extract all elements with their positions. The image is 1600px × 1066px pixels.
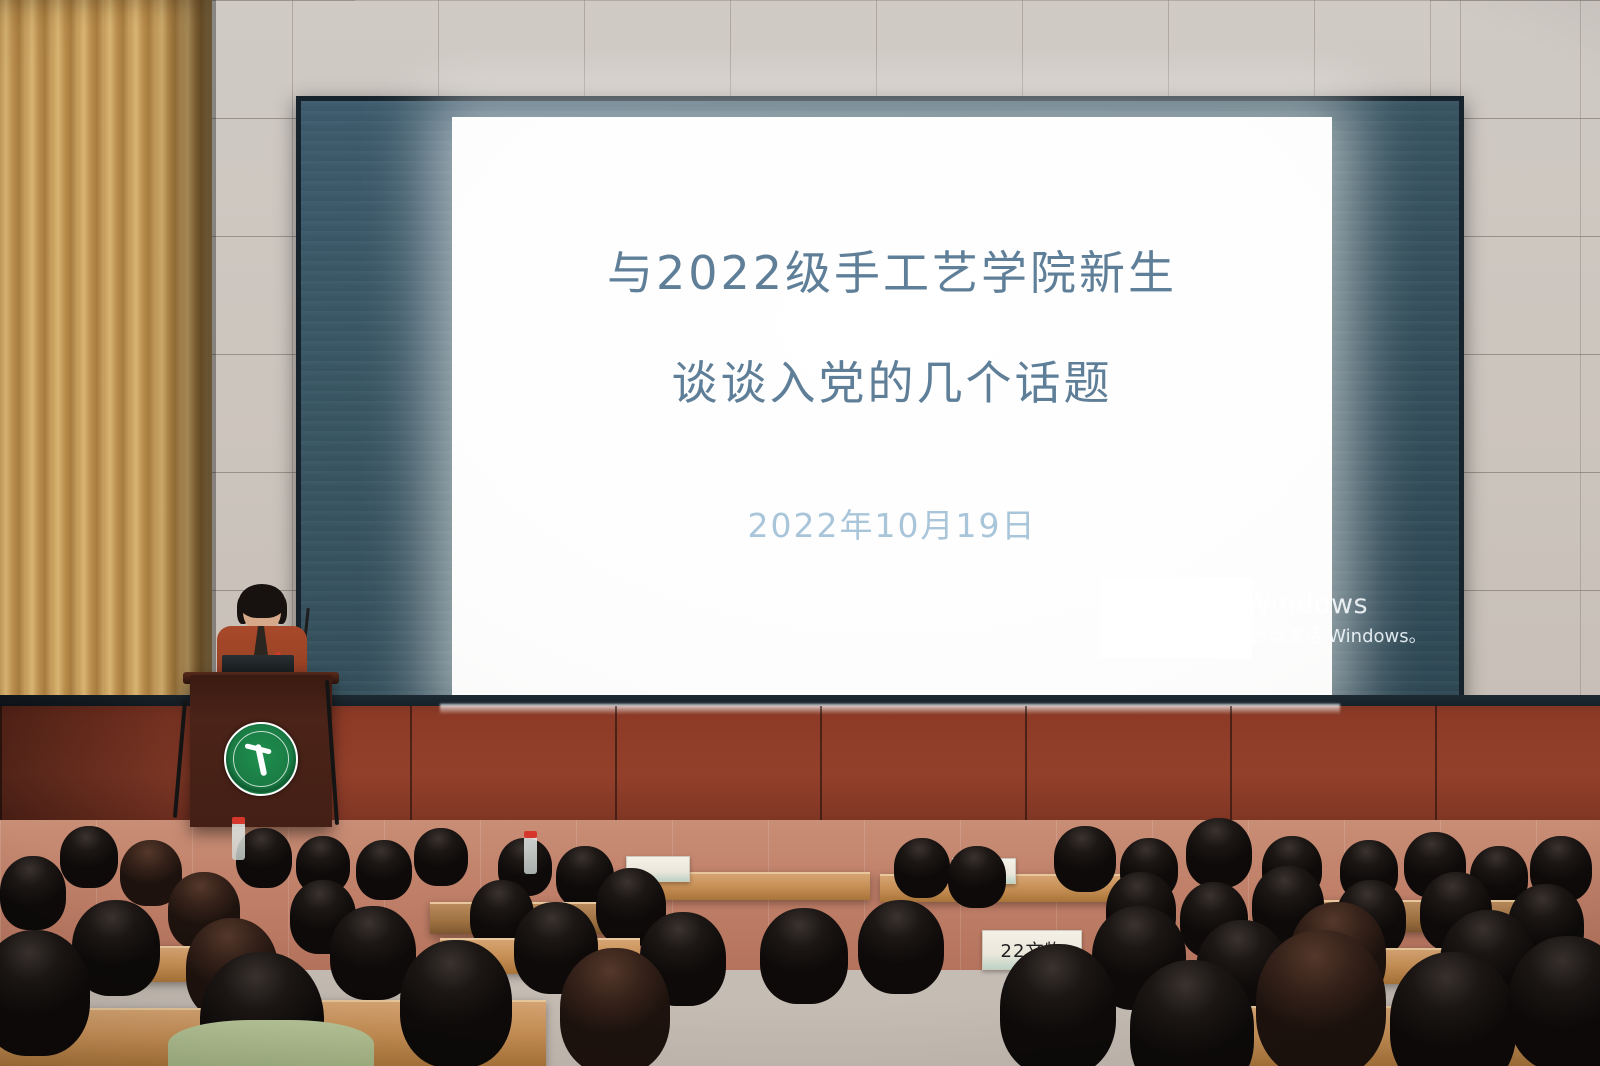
audience-head <box>60 826 118 888</box>
audience-head <box>560 948 670 1066</box>
audience-head <box>760 908 848 1004</box>
water-bottle-cap <box>232 817 245 824</box>
audience-head <box>1256 930 1386 1066</box>
college-seal-emblem <box>224 722 298 796</box>
audience-head <box>894 838 950 898</box>
audience-shoulders-green-hoodie <box>168 1020 374 1066</box>
audience-head <box>1186 818 1252 888</box>
water-bottle <box>232 822 245 860</box>
slide-title-line-1: 与2022级手工艺学院新生 <box>607 237 1177 303</box>
slide-date: 2022年10月19日 <box>748 499 1037 547</box>
audience-head <box>858 900 944 994</box>
audience-head <box>356 840 412 900</box>
lecture-hall-photo: 与2022级手工艺学院新生 谈谈入党的几个话题 2022年10月19日 激活 W… <box>0 0 1600 1066</box>
audience-head <box>948 846 1006 908</box>
audience-head <box>1000 944 1116 1066</box>
projection-screen: 与2022级手工艺学院新生 谈谈入党的几个话题 2022年10月19日 <box>452 117 1332 706</box>
audience-head <box>1054 826 1116 892</box>
speaker-hair <box>239 584 285 618</box>
audience-head <box>414 828 468 886</box>
audience-head <box>0 856 66 930</box>
presentation-slide: 与2022级手工艺学院新生 谈谈入党的几个话题 2022年10月19日 <box>452 117 1332 706</box>
audience-head <box>400 940 512 1066</box>
water-bottle <box>524 836 537 874</box>
slide-title-line-2: 谈谈入党的几个话题 <box>672 347 1113 413</box>
water-bottle-cap <box>524 831 537 838</box>
